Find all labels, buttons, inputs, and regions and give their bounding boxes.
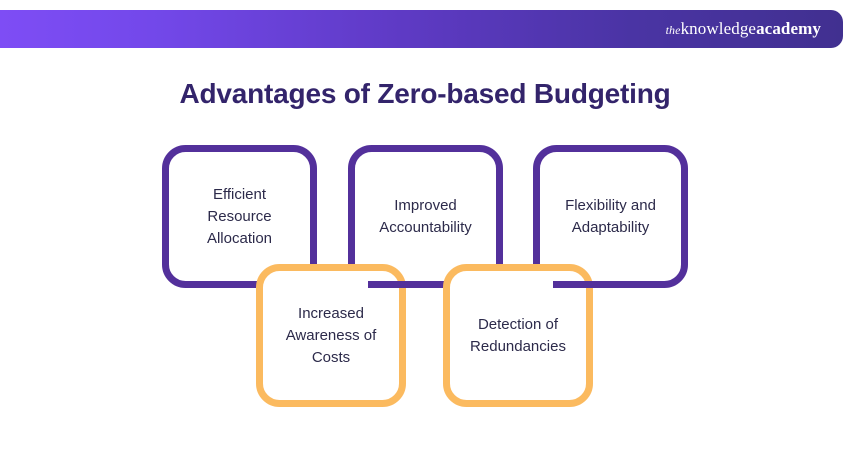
diagram-canvas [0, 0, 850, 450]
advantages-diagram: Efficient Resource AllocationImproved Ac… [0, 0, 850, 450]
purple-box-group [166, 149, 685, 285]
